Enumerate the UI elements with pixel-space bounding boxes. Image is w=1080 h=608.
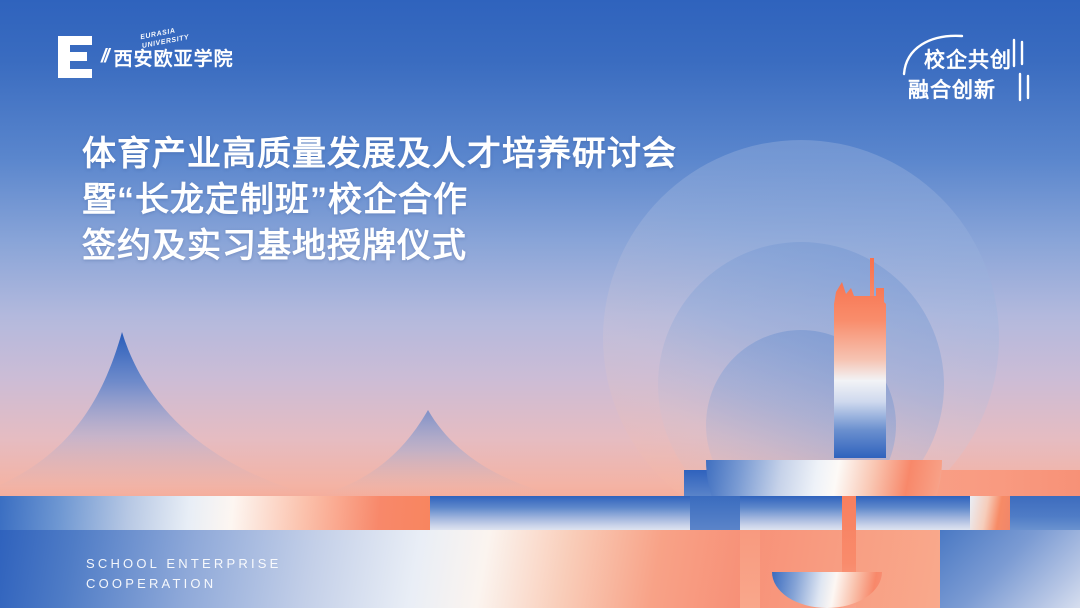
logo-slash-icon: // bbox=[101, 46, 108, 68]
badge-line-2: 融合创新 bbox=[908, 74, 996, 104]
poster-canvas: // 西安欧亚学院 EURASIA UNIVERSITY 校企共创 融合创新 体… bbox=[0, 0, 1080, 608]
subtitle-english: SCHOOL ENTERPRISE COOPERATION bbox=[86, 554, 282, 594]
bottom-thin-band-right bbox=[970, 496, 1010, 530]
page-title: 体育产业高质量发展及人才培养研讨会 暨“长龙定制班”校企合作 签约及实习基地授牌… bbox=[82, 131, 782, 269]
bottom-thin-band-left bbox=[0, 496, 430, 530]
subtitle-line-2: COOPERATION bbox=[86, 574, 282, 594]
title-line-3: 签约及实习基地授牌仪式 bbox=[82, 223, 782, 269]
mountain-range-graphic bbox=[0, 300, 560, 500]
bottom-blue-block-second bbox=[690, 496, 740, 530]
bottom-thin-band-far-right bbox=[1010, 496, 1080, 530]
title-line-1: 体育产业高质量发展及人才培养研讨会 bbox=[82, 131, 782, 177]
bottom-blue-block-corner bbox=[940, 530, 1080, 608]
logo-name-cn: 西安欧亚学院 bbox=[114, 44, 234, 71]
slogan-badge: 校企共创 融合创新 bbox=[896, 30, 1046, 114]
title-line-2: 暨“长龙定制班”校企合作 bbox=[82, 177, 782, 223]
subtitle-line-1: SCHOOL ENTERPRISE bbox=[86, 554, 282, 574]
badge-line-1: 校企共创 bbox=[924, 44, 1012, 74]
e-letter-mark-icon bbox=[58, 36, 92, 78]
